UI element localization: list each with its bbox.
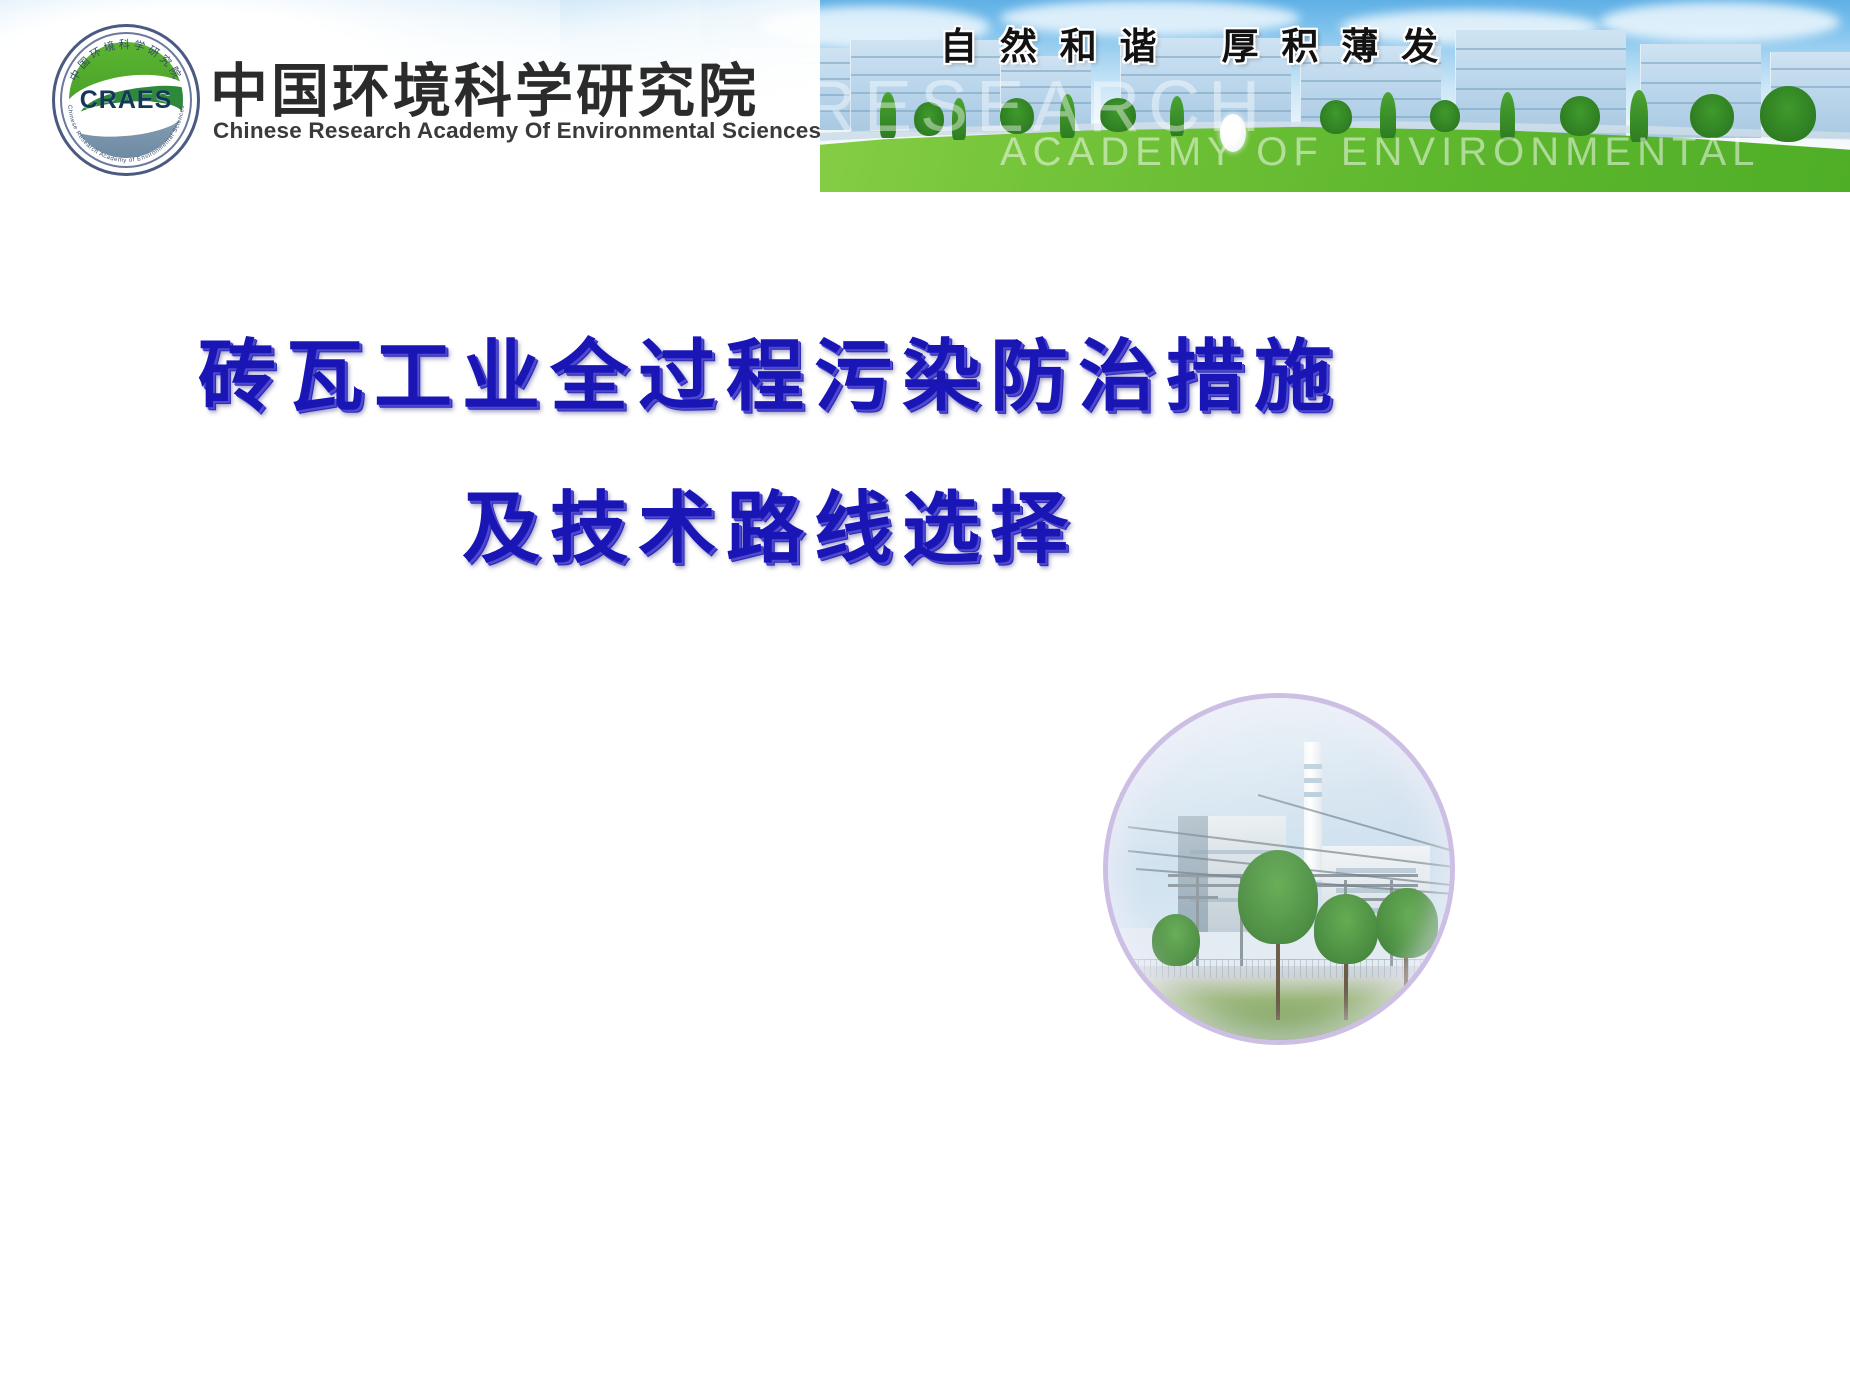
photo-vignette <box>1108 698 1450 1040</box>
tree-shape <box>1430 100 1460 132</box>
cloud-shape <box>1600 2 1840 42</box>
institute-name-english: Chinese Research Academy Of Environmenta… <box>213 118 821 144</box>
slide-title-block: 砖瓦工业全过程污染防治措施 及技术路线选择 <box>0 318 1540 588</box>
slide-title-line-1: 砖瓦工业全过程污染防治措施 <box>0 318 1540 436</box>
industrial-plant-photo <box>1103 693 1455 1045</box>
tree-shape <box>1760 86 1816 142</box>
institute-slogan: 自 然 和 谐 厚 积 薄 发 <box>940 16 1443 70</box>
logo-acronym: CRAES <box>69 86 183 115</box>
institute-name-chinese: 中国环境科学研究院 <box>210 44 759 128</box>
craes-logo: CRAES 中国环境科学研究院 Chinese Research Academy… <box>52 24 200 176</box>
banner-watermark-secondary: ACADEMY OF ENVIRONMENTAL <box>1000 130 1760 175</box>
slide-title-line-2: 及技术路线选择 <box>0 470 1540 588</box>
presentation-slide: E RESEARCH ACADEMY OF ENVIRONMENTAL CRAE… <box>0 0 1850 1388</box>
header-banner: E RESEARCH ACADEMY OF ENVIRONMENTAL CRAE… <box>0 0 1850 192</box>
campus-building <box>1455 30 1626 136</box>
logo-core-emblem: CRAES <box>69 42 183 158</box>
tree-shape <box>1320 100 1352 134</box>
